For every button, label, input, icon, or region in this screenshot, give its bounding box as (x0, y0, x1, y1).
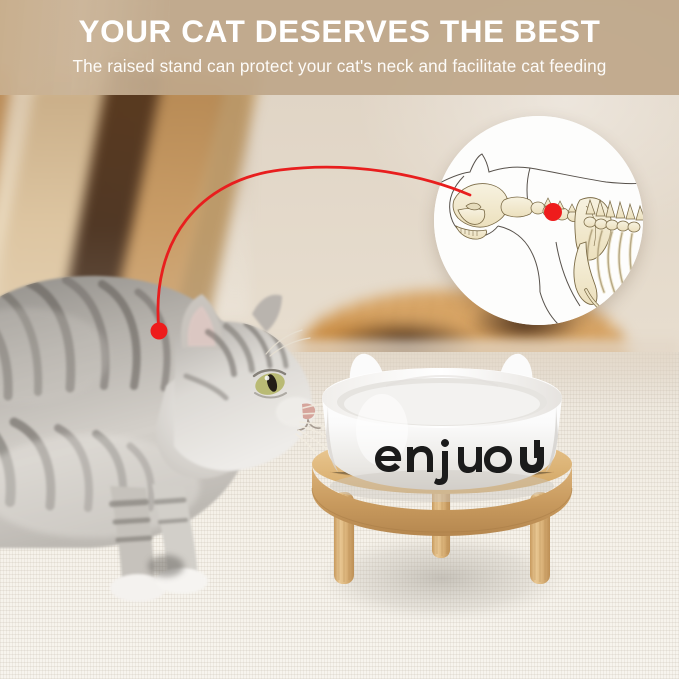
product-bowl-and-stand (290, 340, 590, 630)
skeleton-neck-marker (544, 203, 562, 221)
cat-bowl (322, 354, 562, 502)
product-banner-scene: YOUR CAT DESERVES THE BEST The raised st… (0, 0, 679, 679)
skeleton-magnifier-circle (434, 116, 643, 325)
banner-title: YOUR CAT DESERVES THE BEST (0, 16, 679, 48)
banner-subtitle: The raised stand can protect your cat's … (0, 58, 679, 75)
header-banner: YOUR CAT DESERVES THE BEST The raised st… (0, 0, 679, 95)
